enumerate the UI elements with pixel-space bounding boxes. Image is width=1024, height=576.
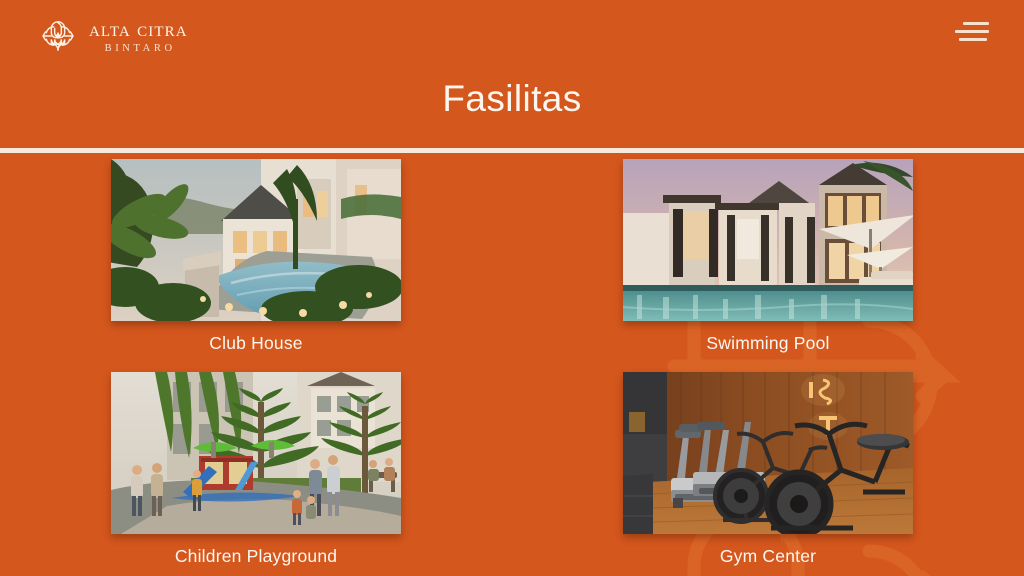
facility-card-club-house[interactable]: Club House xyxy=(0,150,512,363)
hamburger-menu-icon[interactable] xyxy=(955,18,991,44)
brand-subtitle: BINTARO xyxy=(101,43,176,54)
facility-card-children-playground[interactable]: Children Playground xyxy=(0,363,512,576)
facility-card-gym-center[interactable]: Gym Center xyxy=(512,363,1024,576)
children-playground-image[interactable] xyxy=(111,372,401,534)
facility-card-swimming-pool[interactable]: Swimming Pool xyxy=(512,150,1024,363)
gym-center-image[interactable] xyxy=(623,372,913,534)
menu-line-top xyxy=(963,22,989,25)
page-header: Alta Citra BINTARO Fasilitas xyxy=(0,0,1024,150)
facility-label: Club House xyxy=(209,333,302,354)
menu-line-middle xyxy=(955,30,989,33)
facilities-grid: Club House xyxy=(0,150,1024,576)
menu-line-bottom xyxy=(959,38,987,41)
header-divider xyxy=(0,148,1024,153)
swimming-pool-image[interactable] xyxy=(623,159,913,321)
brand-name: Alta Citra xyxy=(89,18,188,40)
facility-label: Swimming Pool xyxy=(706,333,829,354)
page-title: Fasilitas xyxy=(0,78,1024,120)
club-house-image[interactable] xyxy=(111,159,401,321)
ornamental-quatrefoil-emblem-icon xyxy=(38,14,78,58)
facility-label: Gym Center xyxy=(720,546,816,567)
brand-logo[interactable]: Alta Citra BINTARO xyxy=(38,14,188,58)
facility-label: Children Playground xyxy=(175,546,337,567)
